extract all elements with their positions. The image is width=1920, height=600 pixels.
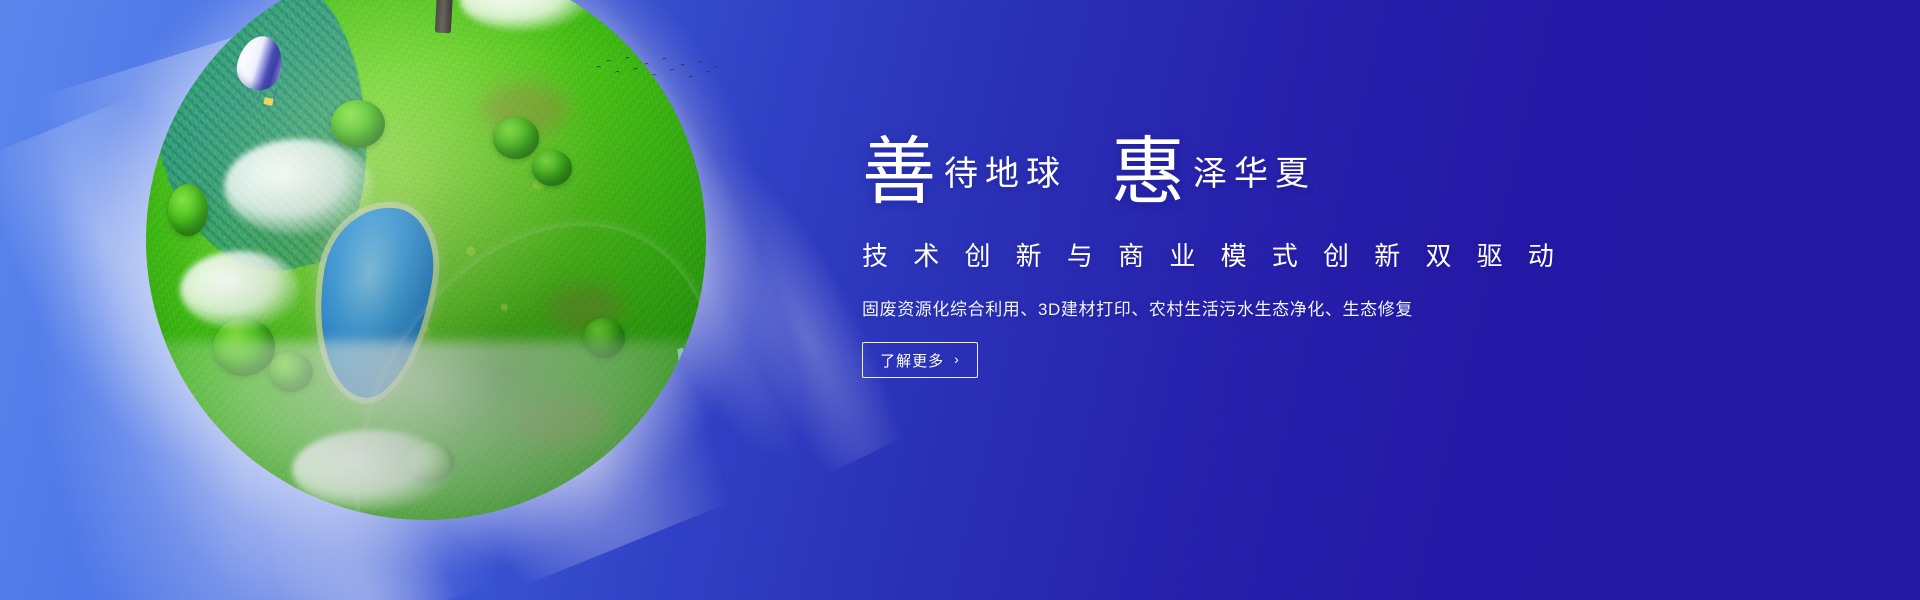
learn-more-label: 了解更多 bbox=[880, 350, 944, 371]
balloon-envelope bbox=[232, 32, 287, 95]
headline-brush-char-1: 善 bbox=[862, 132, 936, 214]
headline-rest-1: 待地球 bbox=[944, 156, 1067, 193]
headline: 善待地球惠泽华夏 bbox=[862, 128, 1622, 220]
banner-content: 善待地球惠泽华夏 技 术 创 新 与 商 业 模 式 创 新 双 驱 动 固废资… bbox=[862, 128, 1622, 378]
learn-more-button[interactable]: 了解更多 › bbox=[862, 342, 978, 378]
headline-rest-2: 泽华夏 bbox=[1193, 156, 1316, 193]
description: 固废资源化综合利用、3D建材打印、农村生活污水生态净化、生态修复 bbox=[862, 295, 1622, 320]
headline-brush-char-2: 惠 bbox=[1111, 132, 1185, 214]
hero-banner: 善待地球惠泽华夏 技 术 创 新 与 商 业 模 式 创 新 双 驱 动 固废资… bbox=[0, 0, 1920, 600]
bird-flock-icon bbox=[592, 52, 722, 94]
balloon-basket bbox=[263, 97, 273, 106]
chevron-right-icon: › bbox=[954, 352, 960, 366]
subtitle: 技 术 创 新 与 商 业 模 式 创 新 双 驱 动 bbox=[862, 236, 1622, 273]
hot-air-balloon-icon bbox=[238, 36, 282, 110]
